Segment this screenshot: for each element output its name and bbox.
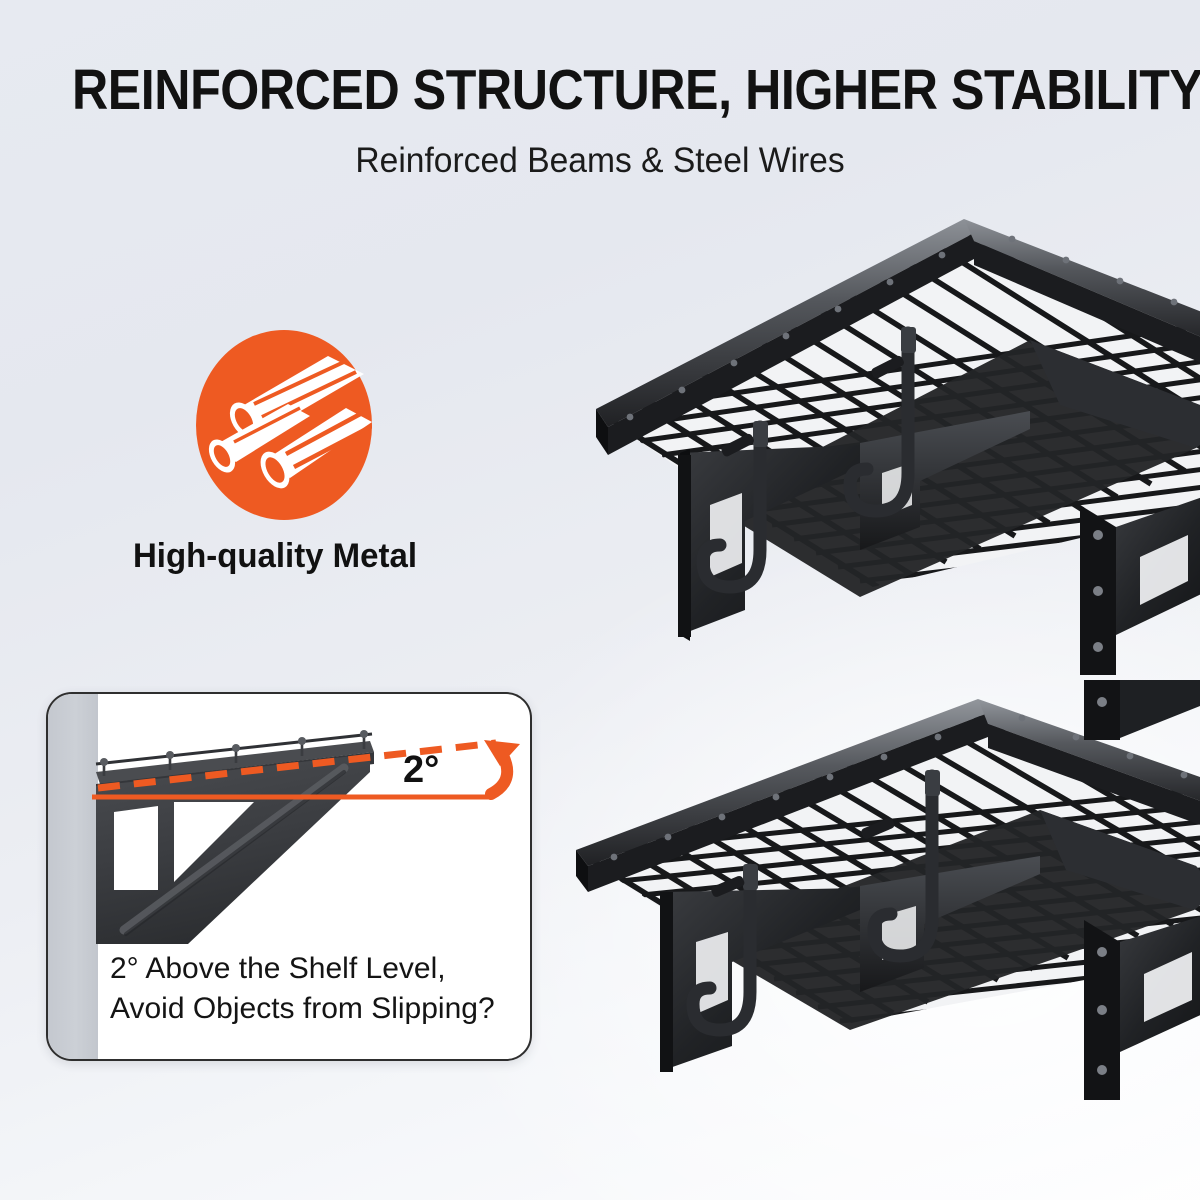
- upper-shelf-photo: [560, 205, 1200, 675]
- badge-label: High-quality Metal: [66, 537, 483, 576]
- angle-illustration-card: 2° 2° Above the Shelf Level, Avoid Objec…: [46, 692, 532, 1061]
- metal-pipes-icon: [196, 330, 372, 520]
- page-subtitle: Reinforced Beams & Steel Wires: [24, 141, 1176, 181]
- high-quality-metal-badge: [196, 330, 372, 520]
- promo-image-canvas: REINFORCED STRUCTURE, HIGHER STABILITY R…: [0, 0, 1200, 1200]
- inset-caption: 2° Above the Shelf Level, Avoid Objects …: [110, 949, 516, 1029]
- caption-line-1: 2° Above the Shelf Level,: [110, 949, 516, 989]
- caption-line-2: Avoid Objects from Slipping?: [110, 989, 516, 1029]
- lower-shelf-photo: [560, 680, 1200, 1140]
- page-title: REINFORCED STRUCTURE, HIGHER STABILITY: [72, 57, 1128, 123]
- bracket-angle-diagram: 2°: [48, 694, 526, 944]
- angle-label: 2°: [403, 749, 439, 791]
